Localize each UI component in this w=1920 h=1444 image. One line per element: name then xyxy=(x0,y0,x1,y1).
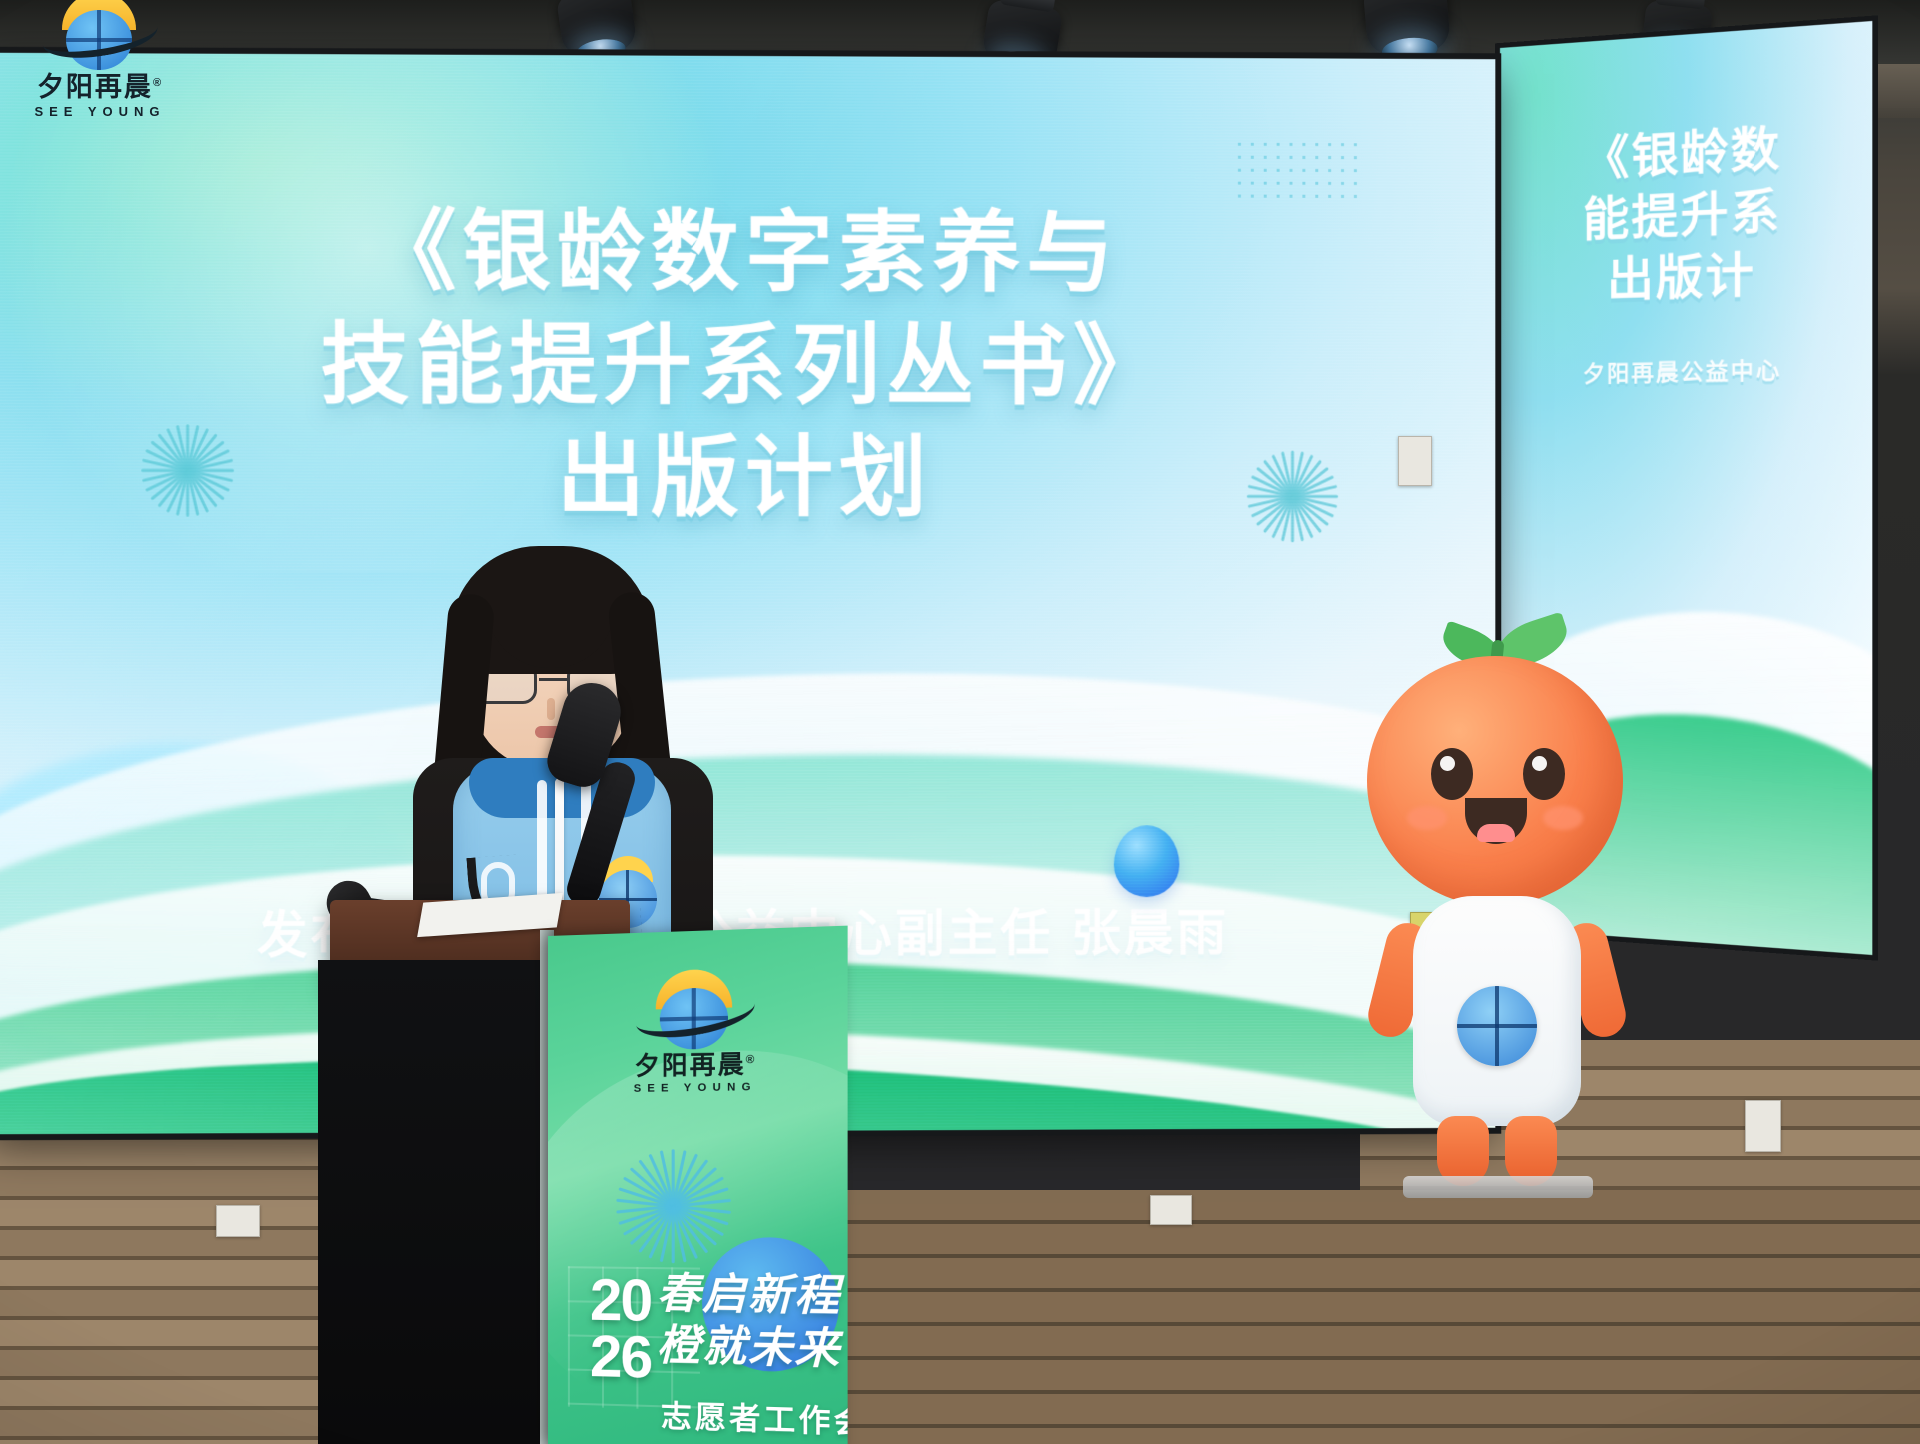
podium-slogan-line-1: 春启新程 xyxy=(657,1267,841,1322)
brand-name-en: SEE YOUNG xyxy=(10,104,190,119)
mascot-cheek-left xyxy=(1407,806,1447,830)
screen-title-line-3: 出版计划 xyxy=(0,420,1495,534)
sunrise-globe-logo-icon xyxy=(40,0,160,72)
podium-brand-name-cn: 夕阳再晨® xyxy=(608,1052,784,1080)
wall-panel-1 xyxy=(1398,436,1432,486)
podium-sunburst-decoration xyxy=(612,1145,735,1268)
presenter-name: 张晨雨 xyxy=(1071,905,1229,961)
registered-mark-icon: ® xyxy=(746,1054,757,1067)
blue-orb-decoration xyxy=(1114,825,1180,897)
logo-swoosh-icon xyxy=(40,7,161,65)
conference-stage-photo: 《银龄数 能提升系 出版计 夕阳再晨公益中心 《银龄数字素养与 技能提升系列丛书… xyxy=(0,0,1920,1444)
podium-year: 20 26 xyxy=(590,1272,651,1386)
side-screen-title: 《银龄数 能提升系 出版计 xyxy=(1500,112,1872,313)
podium-slogan: 春启新程 橙就未来 xyxy=(657,1267,841,1375)
mascot-stand-base xyxy=(1403,1176,1593,1198)
registered-mark-icon: ® xyxy=(153,77,163,89)
mascot-eye-left xyxy=(1431,748,1473,800)
sunrise-globe-logo-icon xyxy=(633,970,757,1053)
podium-meeting-title: 志愿者工作会议 xyxy=(661,1391,848,1444)
globe-badge-icon xyxy=(1457,986,1537,1066)
wall-panel-3 xyxy=(1745,1100,1781,1152)
glasses-bridge xyxy=(539,678,569,681)
speaker-nose xyxy=(547,698,555,720)
podium-year-top: 20 xyxy=(590,1272,651,1329)
podium-front-panel: 夕阳再晨® SEE YOUNG 20 26 春启新程 橙就未来 志愿者工作会议 xyxy=(548,926,848,1444)
screen-title-block: 《银龄数字素养与 技能提升系列丛书》 出版计划 xyxy=(0,194,1495,535)
mascot-eye-right xyxy=(1523,748,1565,800)
podium-brand-name-en: SEE YOUNG xyxy=(608,1081,784,1096)
side-screen-subtitle: 夕阳再晨公益中心 xyxy=(1500,350,1872,390)
podium-slogan-line-2: 橙就未来 xyxy=(657,1319,841,1375)
screen-title-line-1: 《银龄数字素养与 xyxy=(0,194,1495,311)
mascot-cheek-right xyxy=(1543,806,1583,830)
orange-mascot-standee xyxy=(1345,600,1645,1240)
wall-outlet-1 xyxy=(1150,1195,1192,1225)
podium-year-bottom: 26 xyxy=(590,1328,651,1386)
brand-name-cn: 夕阳再晨® xyxy=(10,74,190,101)
podium-brand-logo: 夕阳再晨® SEE YOUNG xyxy=(608,969,784,1095)
screen-title-line-2: 技能提升系列丛书》 xyxy=(0,307,1495,422)
wall-outlet-2 xyxy=(216,1205,260,1237)
brand-logo: 夕阳再晨® SEE YOUNG xyxy=(10,0,190,119)
mascot-head xyxy=(1367,656,1623,906)
